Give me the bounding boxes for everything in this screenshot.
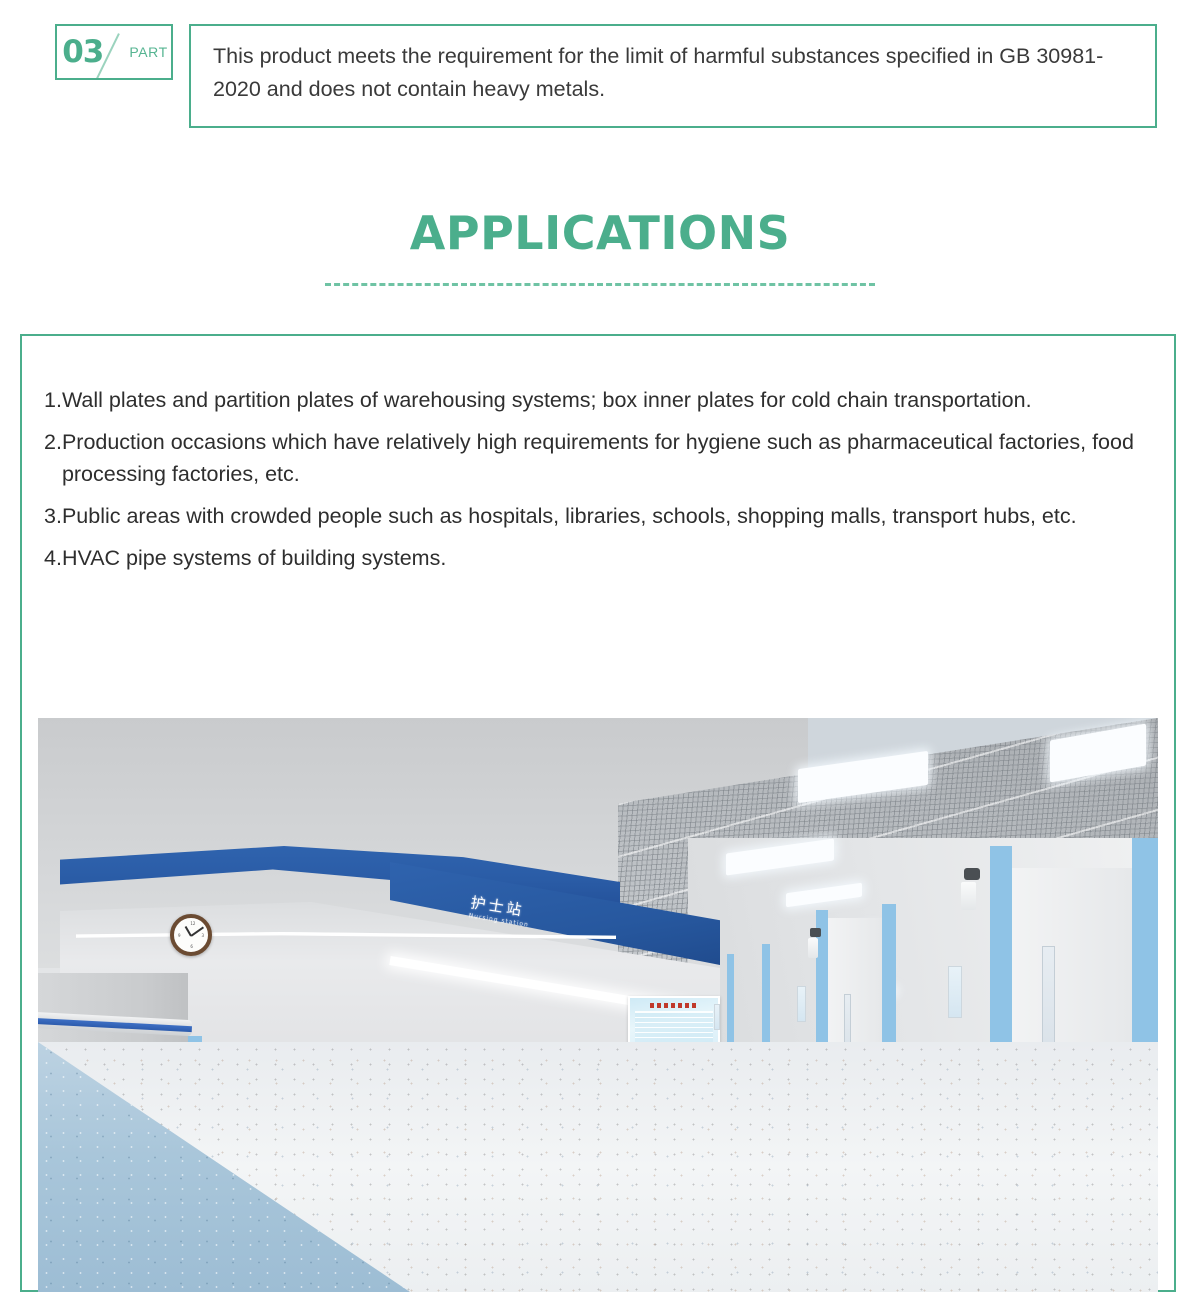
- wall-notice-plate: [797, 986, 806, 1022]
- clock-mark-3: 3: [201, 933, 204, 938]
- clock-mark-9: 9: [178, 933, 181, 938]
- list-item: 1. Wall plates and partition plates of w…: [44, 384, 1154, 417]
- list-item: 2. Production occasions which have relat…: [44, 426, 1154, 491]
- list-item-text: HVAC pipe systems of building systems.: [62, 542, 1154, 575]
- page-root: 03 PART This product meets the requireme…: [0, 0, 1200, 1292]
- part-badge: 03 PART: [55, 24, 173, 80]
- title-divider: [325, 283, 875, 286]
- scene: 护士站 Nursing station: [38, 718, 1158, 1292]
- part-number: 03: [60, 37, 103, 68]
- list-item: 3. Public areas with crowded people such…: [44, 500, 1154, 533]
- part-label: PART: [129, 44, 167, 60]
- wall-clock: 12 3 6 9: [170, 914, 212, 956]
- applications-panel: 1. Wall plates and partition plates of w…: [20, 334, 1176, 1292]
- compliance-note: This product meets the requirement for t…: [189, 24, 1157, 128]
- info-board-rows: [635, 1011, 713, 1045]
- list-item-text: Wall plates and partition plates of ware…: [62, 384, 1154, 417]
- header-row: 03 PART This product meets the requireme…: [55, 24, 1157, 128]
- wall-notice-plate: [948, 966, 962, 1018]
- hospital-corridor-image: 护士站 Nursing station: [38, 718, 1158, 1292]
- clock-mark-6: 6: [190, 944, 193, 949]
- wall-device-box: [808, 938, 818, 958]
- list-item-text: Public areas with crowded people such as…: [62, 500, 1154, 533]
- list-item: 4. HVAC pipe systems of building systems…: [44, 542, 1154, 575]
- wall-device-box: [961, 882, 976, 910]
- list-item-index: 4.: [44, 542, 62, 575]
- applications-list: 1. Wall plates and partition plates of w…: [22, 336, 1174, 574]
- wall-notice-plate: [714, 1004, 720, 1030]
- nurse-station-bulkhead: [60, 806, 700, 974]
- list-item-index: 1.: [44, 384, 62, 417]
- page-title: APPLICATIONS: [0, 206, 1200, 260]
- security-camera-icon: [810, 928, 821, 937]
- list-item-text: Production occasions which have relative…: [62, 426, 1154, 491]
- security-camera-icon: [964, 868, 980, 880]
- list-item-index: 3.: [44, 500, 62, 533]
- clock-mark-12: 12: [190, 921, 195, 926]
- info-board-title-bar: [650, 1003, 698, 1008]
- list-item-index: 2.: [44, 426, 62, 491]
